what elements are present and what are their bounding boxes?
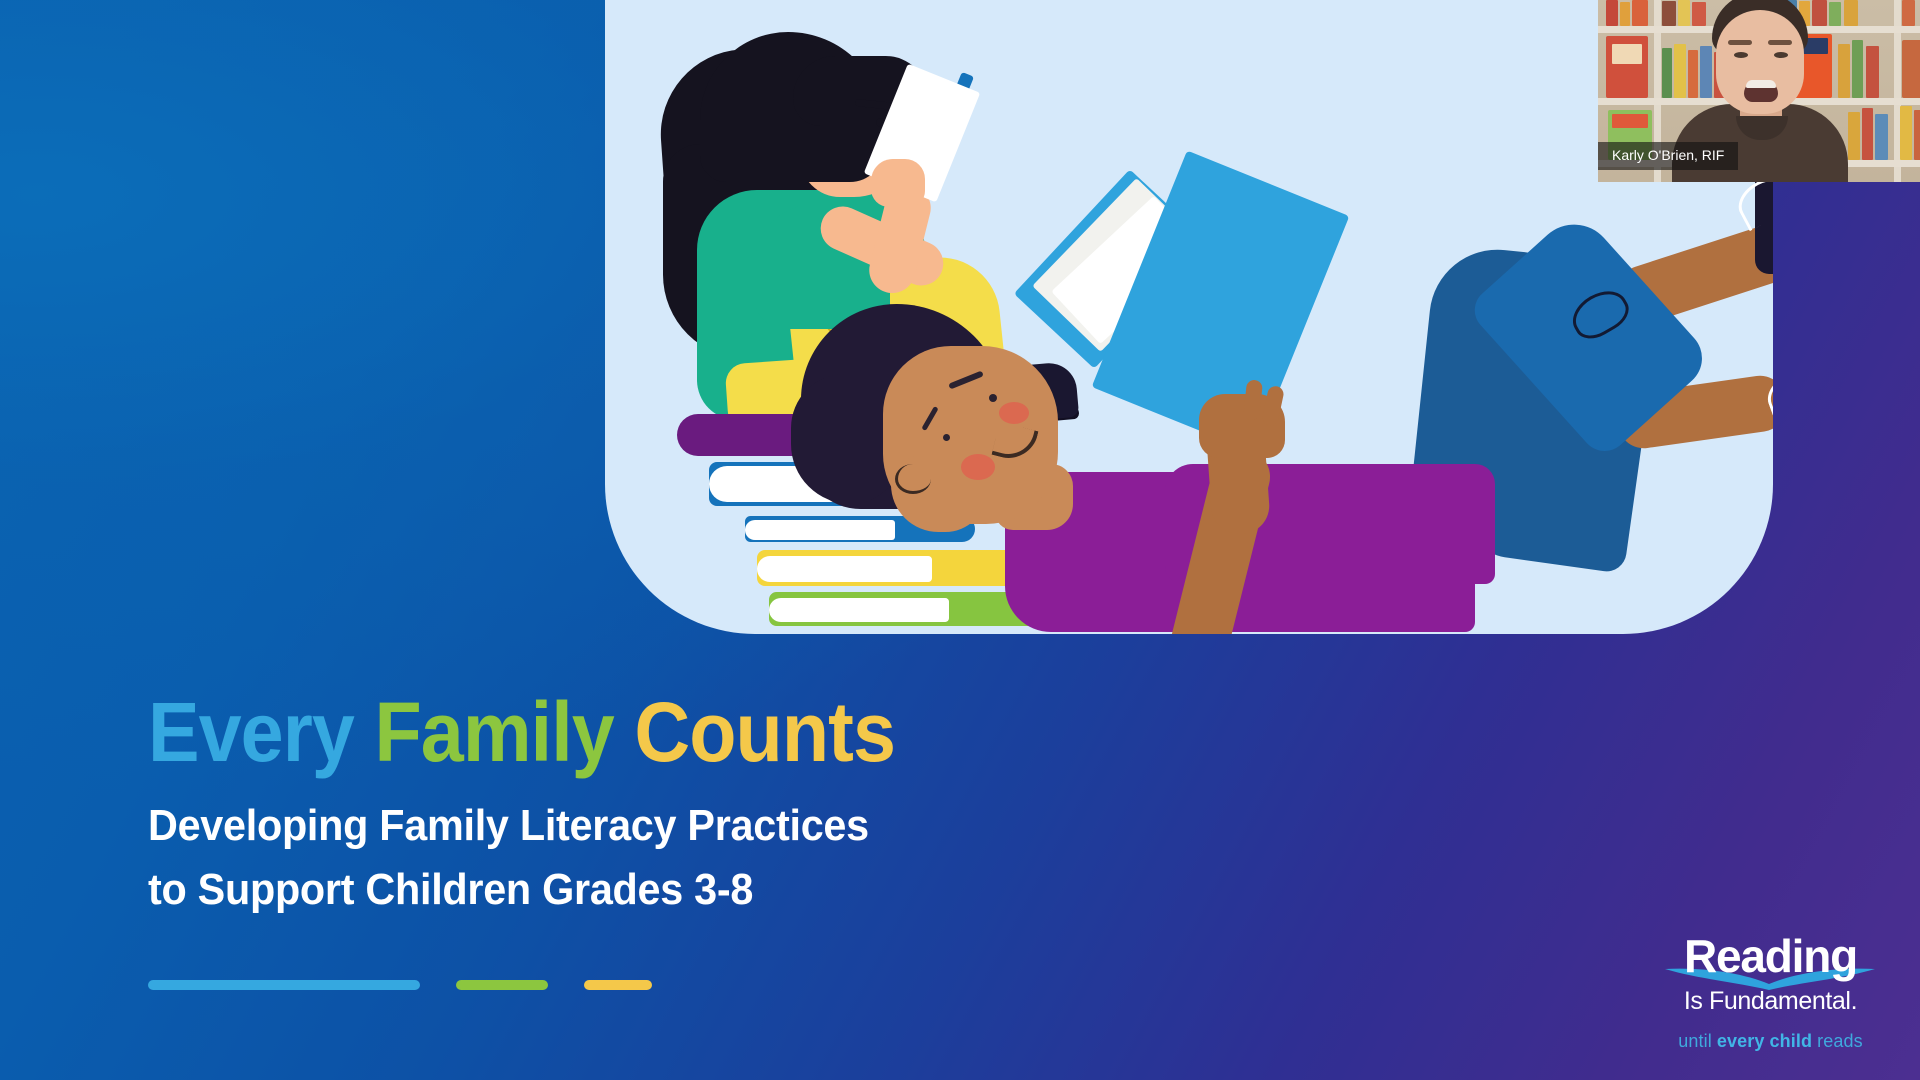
accent-bars (148, 980, 652, 990)
title-block: Every Family Counts Developing Family Li… (148, 690, 960, 922)
title-word-every: Every (148, 685, 354, 779)
shelf-book (1620, 2, 1630, 26)
book-cover-art (1612, 44, 1642, 64)
accent-bar-green (456, 980, 548, 990)
logo-reading-text: Reading (1663, 933, 1878, 979)
shelf-book (1848, 112, 1860, 160)
shelf-book (1900, 106, 1912, 160)
shelf-book (1866, 46, 1879, 98)
shelf-book (1852, 40, 1863, 98)
shelf-book (1632, 0, 1648, 26)
shelf-book (1914, 110, 1920, 160)
accent-bar-yellow (584, 980, 652, 990)
shelf-book (1875, 114, 1888, 160)
person-eye-left (1734, 52, 1748, 58)
shelf-book (1844, 0, 1858, 26)
logo-is-fundamental-text: Is Fundamental. (1663, 989, 1878, 1014)
subtitle-line-1: Developing Family Literacy Practices (148, 794, 911, 858)
subtitle-line-2: to Support Children Grades 3-8 (148, 858, 911, 922)
page-title: Every Family Counts (148, 690, 895, 774)
webcam-video-tile[interactable]: Karly O'Brien, RIF (1598, 0, 1920, 182)
accent-bar-blue (148, 980, 420, 990)
tagline-bold: every child (1717, 1031, 1812, 1051)
head-book-blue-pages (745, 520, 895, 540)
boy-eye-upper (989, 394, 997, 402)
boy-cheek-upper (999, 402, 1029, 424)
shelf-book (1662, 48, 1672, 98)
person-eye-right (1774, 52, 1788, 58)
logo-tagline: until every child reads (1663, 1031, 1878, 1052)
head-book-green-pages (769, 598, 949, 622)
person-eyebrow-right (1768, 40, 1792, 45)
head-book-yellow-pages (757, 556, 932, 582)
participant-name-label: Karly O'Brien, RIF (1598, 142, 1738, 170)
title-word-family: Family (375, 685, 614, 779)
rif-logo: Reading Is Fundamental. until every chil… (1663, 933, 1878, 1052)
boy-cheek-lower (961, 454, 995, 480)
person-teeth (1746, 80, 1776, 88)
shelf-book (1606, 0, 1618, 26)
shelf-book (1662, 1, 1676, 26)
tagline-pre: until (1678, 1031, 1717, 1051)
subtitle: Developing Family Literacy Practices to … (148, 794, 960, 922)
shelf-book (1838, 44, 1850, 98)
title-word-counts: Counts (634, 685, 895, 779)
shelf-book (1902, 0, 1915, 26)
shelf-book (1862, 108, 1873, 160)
tagline-post: reads (1812, 1031, 1863, 1051)
shelf-book-faceout (1902, 40, 1920, 98)
person-eyebrow-left (1728, 40, 1752, 45)
boy-ear (895, 464, 931, 494)
boy-eye-lower (943, 434, 950, 441)
girl-hand (871, 159, 925, 207)
book-cover-title (1612, 114, 1648, 128)
